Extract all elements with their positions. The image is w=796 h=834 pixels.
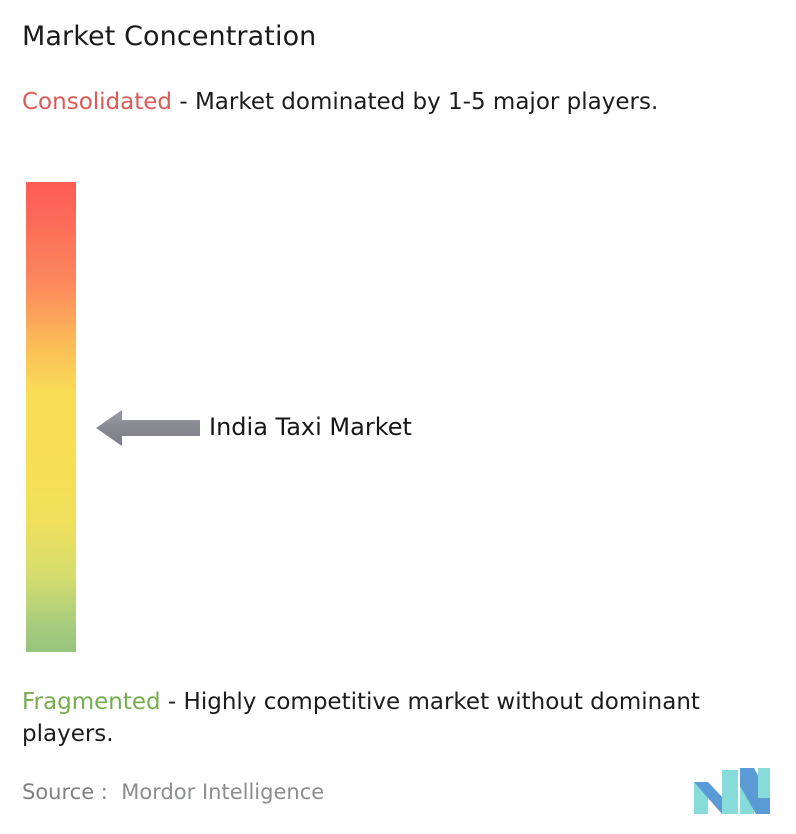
source-attribution: Source : Mordor Intelligence: [22, 778, 324, 806]
mordor-intelligence-logo-icon: [692, 766, 774, 816]
legend-separator-fragmented: -: [161, 689, 184, 715]
source-label: Source :: [22, 780, 108, 804]
concentration-scale: [26, 182, 76, 652]
legend-fragmented: Fragmented - Highly competitive market w…: [22, 686, 782, 750]
market-position-marker: [96, 405, 200, 451]
legend-consolidated: Consolidated - Market dominated by 1-5 m…: [22, 86, 782, 118]
concentration-gradient-bar: [26, 182, 76, 652]
legend-separator-consolidated: -: [172, 89, 195, 115]
legend-key-fragmented: Fragmented: [22, 689, 161, 715]
source-value: Mordor Intelligence: [121, 780, 324, 804]
legend-key-consolidated: Consolidated: [22, 89, 172, 115]
legend-description-consolidated: Market dominated by 1-5 major players.: [195, 89, 658, 115]
arrow-left-icon: [96, 405, 200, 451]
market-position-label: India Taxi Market: [209, 412, 412, 442]
mordor-intelligence-logo: [692, 766, 774, 816]
page-title: Market Concentration: [22, 20, 316, 54]
